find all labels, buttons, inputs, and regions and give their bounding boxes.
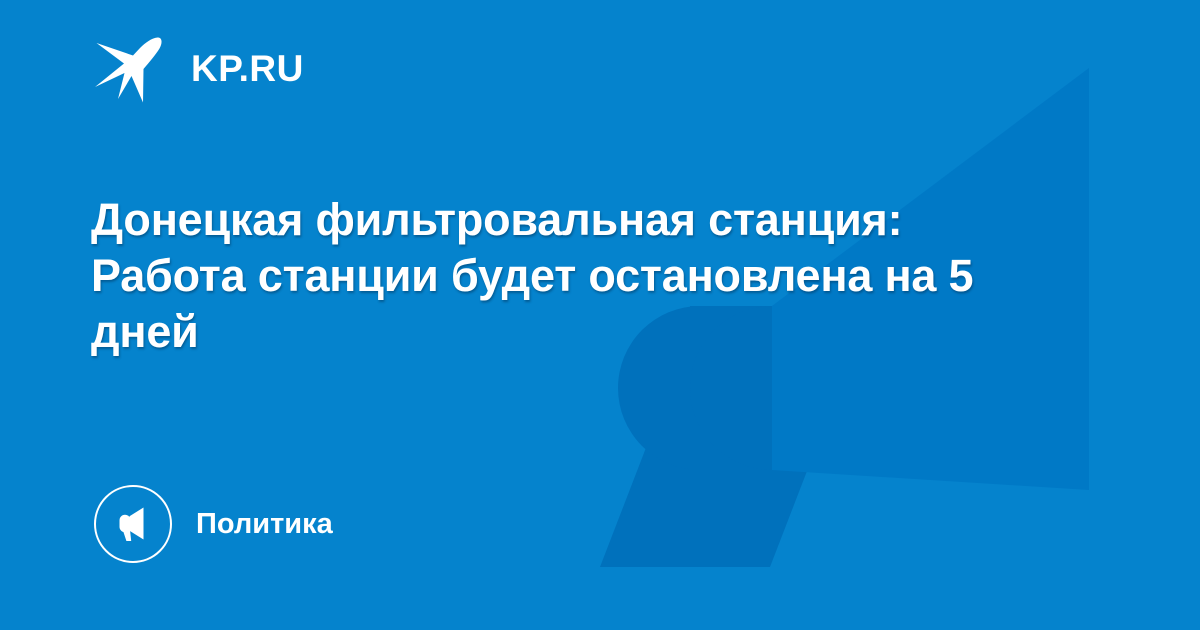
- brand-logo-text: KP.RU: [191, 50, 304, 87]
- category-badge[interactable]: Политика: [94, 484, 333, 564]
- swallow-bird-icon: [91, 33, 169, 103]
- site-header: KP.RU: [91, 33, 304, 103]
- megaphone-icon: [110, 501, 156, 547]
- category-label: Политика: [196, 510, 333, 539]
- category-icon-circle: [94, 485, 172, 563]
- article-share-card: KP.RU Донецкая фильтровальная станция: Р…: [0, 0, 1200, 630]
- page-title: Донецкая фильтровальная станция: Работа …: [91, 192, 1021, 360]
